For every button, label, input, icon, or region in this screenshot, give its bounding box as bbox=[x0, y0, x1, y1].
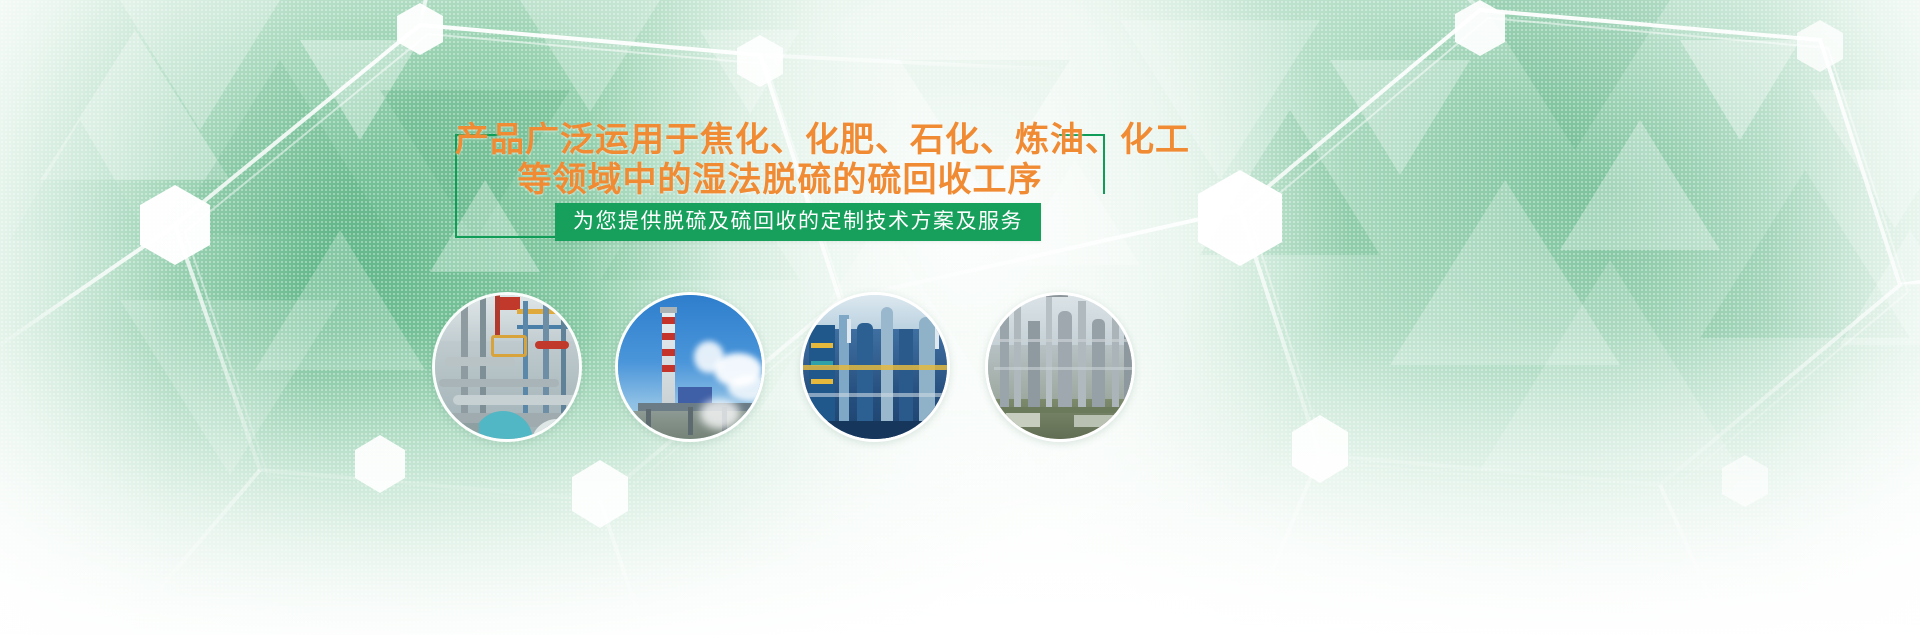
photo-circle-1 bbox=[432, 292, 582, 442]
headline: 产品广泛运用于焦化、化肥、石化、炼油、化工 等领域中的湿法脱硫的硫回收工序 bbox=[455, 120, 1105, 200]
photo-circle-row bbox=[0, 292, 1920, 442]
photo-circle-2 bbox=[615, 292, 765, 442]
process-platform-image bbox=[803, 295, 947, 439]
refinery-towers-image bbox=[988, 295, 1132, 439]
chimney-stack-plant-image bbox=[618, 295, 762, 439]
subtitle-ribbon: 为您提供脱硫及硫回收的定制技术方案及服务 bbox=[555, 203, 1041, 241]
headline-line-1: 产品广泛运用于焦化、化肥、石化、炼油、化工 bbox=[455, 121, 1190, 159]
photo-circle-4 bbox=[985, 292, 1135, 442]
promo-banner: 产品广泛运用于焦化、化肥、石化、炼油、化工 等领域中的湿法脱硫的硫回收工序 为您… bbox=[0, 0, 1920, 635]
desulfurization-piping-plant-image bbox=[435, 295, 579, 439]
headline-line-2: 等领域中的湿法脱硫的硫回收工序 bbox=[455, 160, 1105, 200]
photo-circle-3 bbox=[800, 292, 950, 442]
